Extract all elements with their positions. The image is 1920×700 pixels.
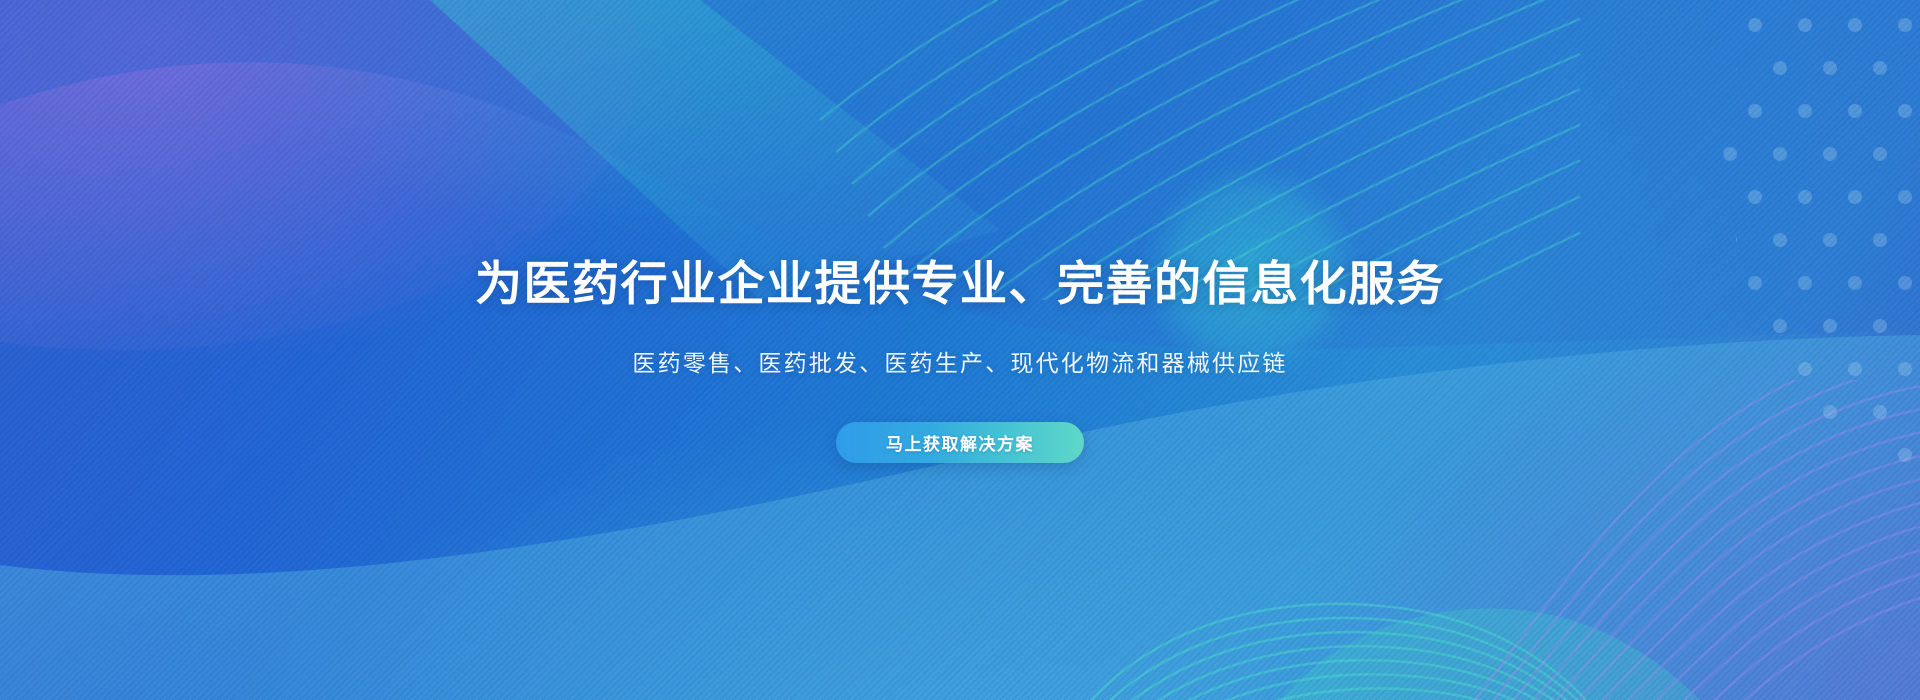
page-title: 为医药行业企业提供专业、完善的信息化服务 xyxy=(0,256,1920,311)
cta-container: 马上获取解决方案 xyxy=(0,422,1920,463)
hero-content: 为医药行业企业提供专业、完善的信息化服务 医药零售、医药批发、医药生产、现代化物… xyxy=(0,0,1920,700)
page-subtitle: 医药零售、医药批发、医药生产、现代化物流和器械供应链 xyxy=(0,347,1920,379)
hero-banner: 为医药行业企业提供专业、完善的信息化服务 医药零售、医药批发、医药生产、现代化物… xyxy=(0,0,1920,700)
get-solution-button[interactable]: 马上获取解决方案 xyxy=(836,422,1084,463)
